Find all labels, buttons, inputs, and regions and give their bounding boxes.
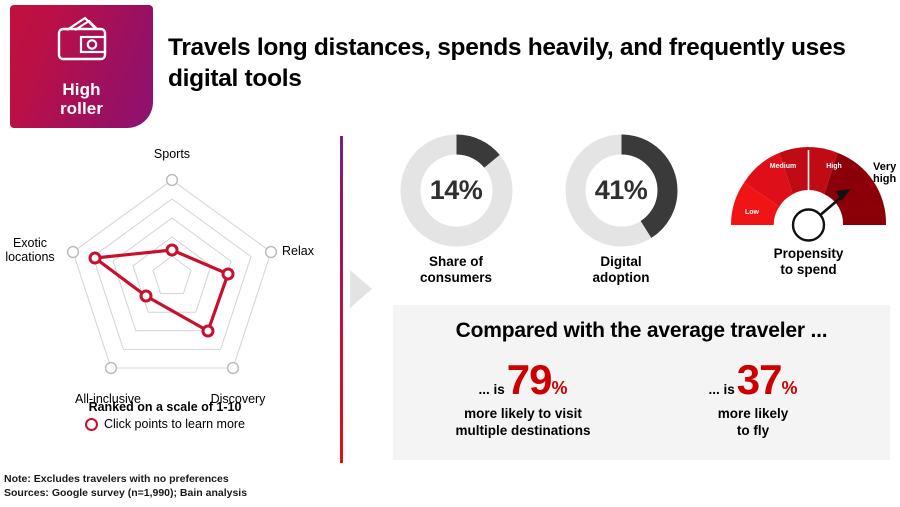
compare-panel: Compared with the average traveler ... .… [393,305,890,460]
metric-label-line1: Propensity [774,246,844,261]
metric-digital-adoption-label: Digital adoption [556,254,686,286]
radar-grid [73,180,271,368]
radar-vertex-sports [167,175,178,186]
radar-point-all-inclusive[interactable] [141,291,151,301]
radar-vertex-relax [266,247,277,258]
persona-badge[interactable]: High roller [10,5,153,128]
gauge-label-medium: Medium [770,163,796,170]
gauge-label-high: High [826,163,842,170]
compare-stat-value-row: ... is 37 % [648,360,858,400]
metric-label-line1: Digital [600,254,641,269]
donut-digital-adoption: 41% [564,133,679,248]
metric-label-line1: Share of [429,254,483,269]
compare-stat-percent-sign: % [781,378,797,399]
gauge-hub [793,210,824,241]
radar-chart[interactable]: Sports Relax Discovery All-inclusive Exo… [0,155,330,475]
compare-stat-percent-sign: % [551,378,567,399]
metric-label-line2: consumers [420,270,492,285]
compare-stat-number: 79 [507,360,552,400]
metric-label-line2: adoption [593,270,650,285]
compare-stat-prefix: ... is [479,382,505,397]
persona-badge-label: High roller [60,81,103,118]
radar-vertex-discovery [228,363,239,374]
radar-vertex-exotic-locations [68,247,79,258]
metric-label-line2: to spend [780,262,836,277]
radar-legend-title: Ranked on a scale of 1-10 [0,400,330,414]
radar-series-polygon [95,250,228,331]
radar-label-relax: Relax [282,244,342,258]
page-title: Travels long distances, spends heavily, … [168,32,868,95]
compare-stat-description: more likely to visit multiple destinatio… [418,406,628,440]
radar-point-sports[interactable] [167,245,177,255]
gauge-label-very-high: Very high [873,161,900,186]
metric-digital-adoption: 41% Digital adoption [556,133,686,286]
metrics-row: 14% Share of consumers 41% Digital adopt… [383,133,895,303]
metric-propensity-to-spend-label: Propensity to spend [721,246,896,278]
flow-arrow-icon [350,270,372,308]
metric-share-of-consumers: 14% Share of consumers [391,133,521,286]
donut-share-of-consumers: 14% [399,133,514,248]
radar-legend-marker-icon [85,418,98,431]
compare-heading: Compared with the average traveler ... [393,319,890,343]
compare-stat-value-row: ... is 79 % [418,360,628,400]
radar-chart-svg[interactable] [0,155,330,405]
metric-propensity-to-spend: Low Medium High Very high Propensity to … [721,133,896,278]
vertical-divider [340,136,343,463]
gauge-propensity-to-spend: Low Medium High Very high [721,133,896,248]
metric-share-of-consumers-label: Share of consumers [391,254,521,286]
compare-stat-description: more likely to fly [648,406,858,440]
radar-label-sports: Sports [132,147,212,161]
radar-vertex-all-inclusive [106,363,117,374]
radar-legend-hint-row[interactable]: Click points to learn more [0,417,330,431]
footnote-note: Note: Excludes travelers with no prefere… [4,473,247,487]
compare-stat-fly: ... is 37 % more likely to fly [648,360,858,440]
donut-share-of-consumers-value: 14% [399,133,514,248]
radar-point-discovery[interactable] [203,326,213,336]
persona-badge-label-line2: roller [60,99,103,118]
gauge-label-low: Low [745,209,760,216]
footnote: Note: Excludes travelers with no prefere… [4,473,247,501]
donut-digital-adoption-value: 41% [564,133,679,248]
radar-point-relax[interactable] [223,269,233,279]
persona-badge-label-line1: High [62,80,100,99]
compare-stat-multiple-destinations: ... is 79 % more likely to visit multipl… [418,360,628,440]
radar-legend: Ranked on a scale of 1-10 Click points t… [0,400,330,431]
gauge-propensity-to-spend-svg: Low Medium High [721,133,896,245]
radar-label-exotic-locations: Exoticlocations [0,236,64,265]
compare-stat-number: 37 [737,360,782,400]
footnote-sources: Sources: Google survey (n=1,990); Bain a… [4,487,247,501]
radar-point-exotic-locations[interactable] [90,253,100,263]
wallet-icon [51,16,113,73]
compare-stat-prefix: ... is [709,382,735,397]
radar-legend-hint: Click points to learn more [104,417,245,431]
